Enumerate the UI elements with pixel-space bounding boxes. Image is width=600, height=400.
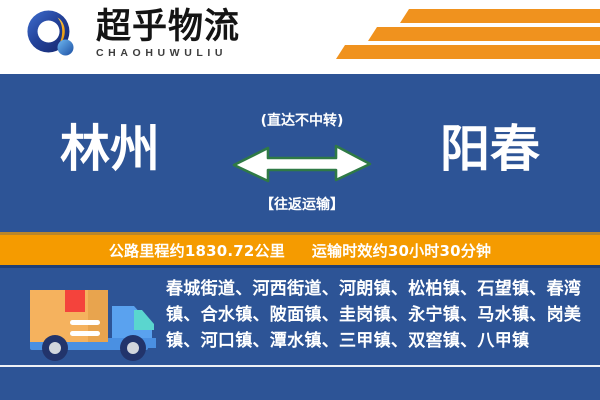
- stripe-2: [368, 27, 600, 41]
- company-logo: [26, 7, 92, 67]
- logistics-route-banner: 超乎物流 CHAOHUWULIU 林州 (直达不中转) 【往返运输】 阳春 公路…: [0, 0, 600, 400]
- coverage-section: 春城街道、河西街道、河朗镇、松柏镇、石望镇、春湾镇、合水镇、陂面镇、圭岗镇、永宁…: [0, 268, 600, 400]
- route-section: 林州 (直达不中转) 【往返运输】 阳春: [0, 74, 600, 232]
- stripe-1: [400, 9, 600, 23]
- header-stripe-decoration: [330, 9, 600, 67]
- coverage-areas-text: 春城街道、河西街道、河朗镇、松柏镇、石望镇、春湾镇、合水镇、陂面镇、圭岗镇、永宁…: [166, 276, 586, 354]
- delivery-truck-icon: [26, 280, 162, 366]
- brand-text-block: 超乎物流 CHAOHUWULIU: [96, 8, 286, 68]
- origin-city: 林州: [60, 118, 160, 180]
- route-info-text: 公路里程约1830.72公里 运输时效约30小时30分钟: [109, 240, 491, 261]
- circular-moon-logo-icon: [26, 9, 78, 61]
- distance-text: 公路里程约1830.72公里: [109, 242, 285, 260]
- footer-divider: [0, 365, 600, 367]
- brand-name-cn: 超乎物流: [96, 8, 286, 46]
- brand-name-en: CHAOHUWULIU: [96, 47, 286, 60]
- banner-header: 超乎物流 CHAOHUWULIU: [0, 0, 600, 74]
- route-arrow-group: (直达不中转) 【往返运输】: [228, 110, 376, 218]
- destination-city: 阳春: [440, 118, 540, 180]
- bidirectional-arrow-icon: [232, 140, 372, 184]
- round-trip-label: 【往返运输】: [228, 194, 376, 214]
- direct-service-label: (直达不中转): [228, 110, 376, 130]
- duration-text: 运输时效约30小时30分钟: [312, 242, 491, 260]
- route-info-bar: 公路里程约1830.72公里 运输时效约30小时30分钟: [0, 232, 600, 268]
- stripe-3: [336, 45, 600, 59]
